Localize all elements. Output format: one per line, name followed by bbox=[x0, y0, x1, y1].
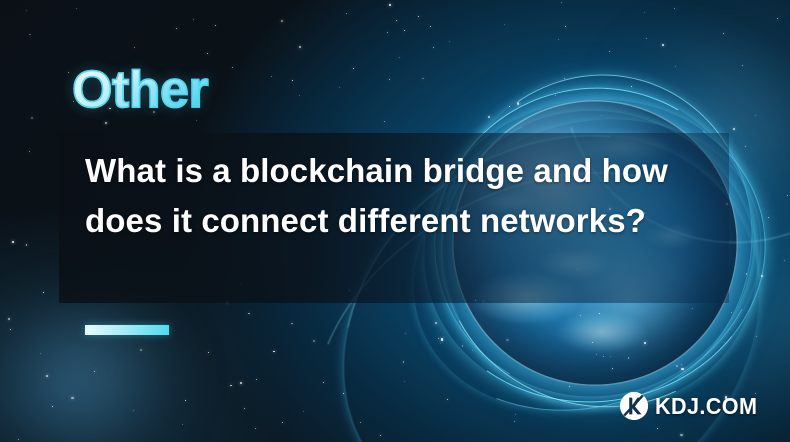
logo-wordmark: KDJ.COM bbox=[655, 393, 757, 420]
banner-card: Other What is a blockchain bridge and ho… bbox=[0, 0, 790, 442]
page-title: What is a blockchain bridge and how does… bbox=[85, 146, 710, 246]
accent-underline-bar bbox=[85, 325, 169, 335]
site-logo[interactable]: KDJ.COM bbox=[620, 392, 764, 420]
kdj-circle-k-icon bbox=[620, 392, 648, 420]
category-label: Other bbox=[72, 64, 208, 116]
